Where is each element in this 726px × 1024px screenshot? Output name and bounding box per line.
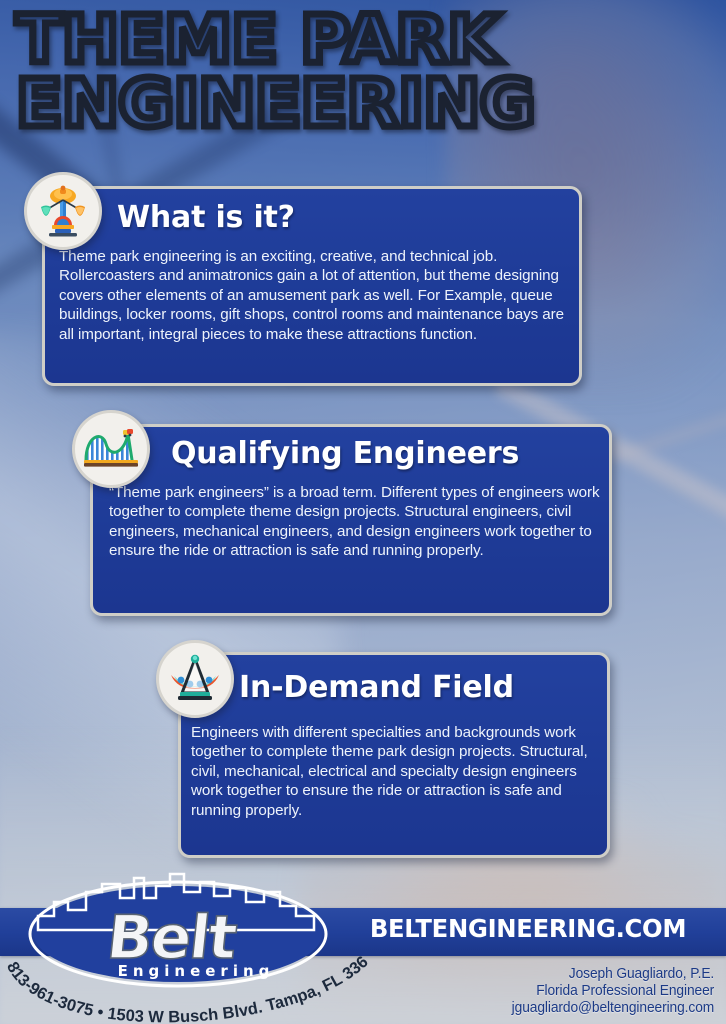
footer: Belt Engineering 813-961-3075 • 1503 W B…	[0, 870, 726, 1024]
info-card-in-demand-field: In-Demand Field Engineers with different…	[178, 652, 610, 858]
card-body: Engineers with different specialties and…	[191, 723, 605, 820]
carousel-swing-ride-icon	[24, 172, 102, 250]
card-title: In-Demand Field	[239, 673, 514, 703]
contact-name: Joseph Guagliardo, P.E.	[512, 966, 714, 983]
roller-coaster-icon	[72, 410, 150, 488]
card-body: Theme park engineering is an exciting, c…	[59, 247, 571, 344]
arc-text-content: 813-961-3075 • 1503 W Busch Blvd. Tampa,…	[0, 908, 372, 1024]
title-line-2: ENGINEERING	[16, 72, 634, 136]
footer-arc-contact-line: 813-961-3075 • 1503 W Busch Blvd. Tampa,…	[0, 908, 380, 1024]
contact-block: Joseph Guagliardo, P.E. Florida Professi…	[512, 966, 714, 1017]
card-title: Qualifying Engineers	[171, 439, 519, 469]
contact-email[interactable]: jguagliardo@beltengineering.com	[512, 1000, 714, 1017]
card-body: “Theme park engineers” is a broad term. …	[109, 483, 601, 561]
info-card-what-is-it: What is it? Theme park engineering is an…	[42, 186, 582, 386]
card-title: What is it?	[117, 203, 295, 233]
page-title-wrap: THEME PARK ENGINEERING	[16, 8, 616, 136]
contact-role: Florida Professional Engineer	[512, 983, 714, 1000]
page-title: THEME PARK ENGINEERING	[16, 8, 634, 136]
website-url[interactable]: BELTENGINEERING.COM	[344, 914, 713, 943]
poster-root: THEME PARK ENGINEERING THEME PARK ENGINE…	[0, 0, 726, 1024]
pendulum-swing-ride-icon	[156, 640, 234, 718]
title-line-1: THEME PARK	[16, 8, 634, 72]
info-card-qualifying-engineers: Qualifying Engineers “Theme park enginee…	[90, 424, 612, 616]
